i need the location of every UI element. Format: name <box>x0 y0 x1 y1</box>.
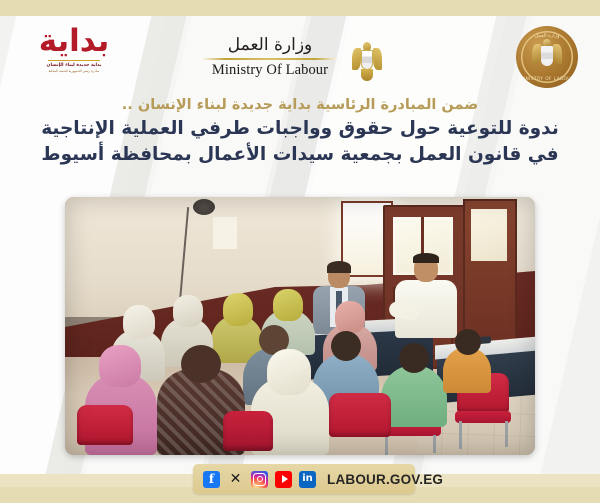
seal-eagle-wing-right <box>553 44 562 64</box>
bidaya-initiative-logo: بداية بداية جديدة لبناء الإنسان مبادرة ر… <box>26 25 122 73</box>
facebook-icon[interactable]: f <box>203 471 220 488</box>
ceiling-fixture <box>193 199 215 215</box>
attendee-headscarf <box>123 305 155 339</box>
eagle-wing-right <box>373 48 382 70</box>
eagle-wing-left <box>352 48 361 70</box>
headline-line-3: في قانون العمل بجمعية سيدات الأعمال بمحا… <box>20 142 580 168</box>
headline-block: ضمن المبادرة الرئاسية بداية جديدة لبناء … <box>20 95 580 169</box>
occupied-chair <box>77 405 133 445</box>
empty-chair-seat <box>455 411 511 423</box>
bidaya-tagline: بداية جديدة لبناء الإنسان <box>26 63 122 68</box>
seminar-room-photograph <box>65 197 535 455</box>
attendee-headscarf <box>223 293 253 326</box>
attendee-head <box>331 331 361 361</box>
headline-line-1: ضمن المبادرة الرئاسية بداية جديدة لبناء … <box>20 95 580 116</box>
x-twitter-icon[interactable]: ✕ <box>227 471 244 488</box>
egypt-flag-shield <box>361 50 373 70</box>
attendee-headscarf <box>173 295 203 327</box>
bidaya-divider <box>48 60 100 61</box>
attendee-headscarf <box>335 301 365 333</box>
header-logos: بداية بداية جديدة لبناء الإنسان مبادرة ر… <box>0 16 600 94</box>
occupied-chair <box>329 393 391 437</box>
ministry-of-labour-wordmark: وزارة العمل Ministry Of Labour <box>196 36 344 79</box>
headline-line-2: ندوة للتوعية حول حقوق وواجبات طرفي العمل… <box>20 116 580 142</box>
chair-leg <box>505 421 508 447</box>
youtube-play-triangle <box>282 475 288 483</box>
top-cream-band <box>0 0 600 16</box>
speaker-in-white-shirt <box>395 255 457 341</box>
youtube-icon[interactable] <box>275 471 292 488</box>
chair-leg <box>459 421 462 449</box>
eagle-tail <box>361 69 373 81</box>
door-glass-secondary <box>471 209 507 261</box>
instagram-ring <box>253 473 266 486</box>
seal-title-english: MINISTRY OF LABOUR <box>516 77 578 82</box>
poster-canvas: بداية بداية جديدة لبناء الإنسان مبادرة ر… <box>0 0 600 503</box>
instagram-lens <box>257 476 263 482</box>
bidaya-wordmark: بداية <box>26 25 122 58</box>
egypt-eagle-icon <box>352 42 382 84</box>
ministry-title-english: Ministry Of Labour <box>196 62 344 79</box>
bidaya-subtagline: مبادرة رئيس الجمهورية للتنمية المحلية <box>26 69 122 73</box>
footer-social-bar: f ✕ in LABOUR.GOV.EG <box>193 464 415 494</box>
instagram-icon[interactable] <box>251 471 268 488</box>
wall-paper-notice <box>213 217 237 249</box>
ministry-divider <box>200 58 340 60</box>
ministry-title-arabic: وزارة العمل <box>196 36 344 55</box>
chair-leg <box>385 435 388 455</box>
linkedin-icon[interactable]: in <box>299 471 316 488</box>
attendee-headscarf <box>267 349 311 395</box>
photo-content <box>65 197 535 455</box>
seal-eagle-wing-left <box>532 44 541 64</box>
speaker2-hair <box>413 253 439 263</box>
attendee-head <box>181 345 221 383</box>
speaker-hair <box>327 261 351 273</box>
attendee-head <box>455 329 481 355</box>
attendee-headscarf <box>273 289 303 321</box>
attendee-head <box>399 343 429 373</box>
attendee-headscarf <box>99 345 141 387</box>
website-url[interactable]: LABOUR.GOV.EG <box>327 472 443 487</box>
ministry-of-labour-seal: وزارة العمل MINISTRY OF LABOUR <box>516 26 578 88</box>
seal-flag-shield <box>541 46 553 66</box>
chair-leg <box>433 435 436 453</box>
occupied-chair <box>223 411 273 451</box>
